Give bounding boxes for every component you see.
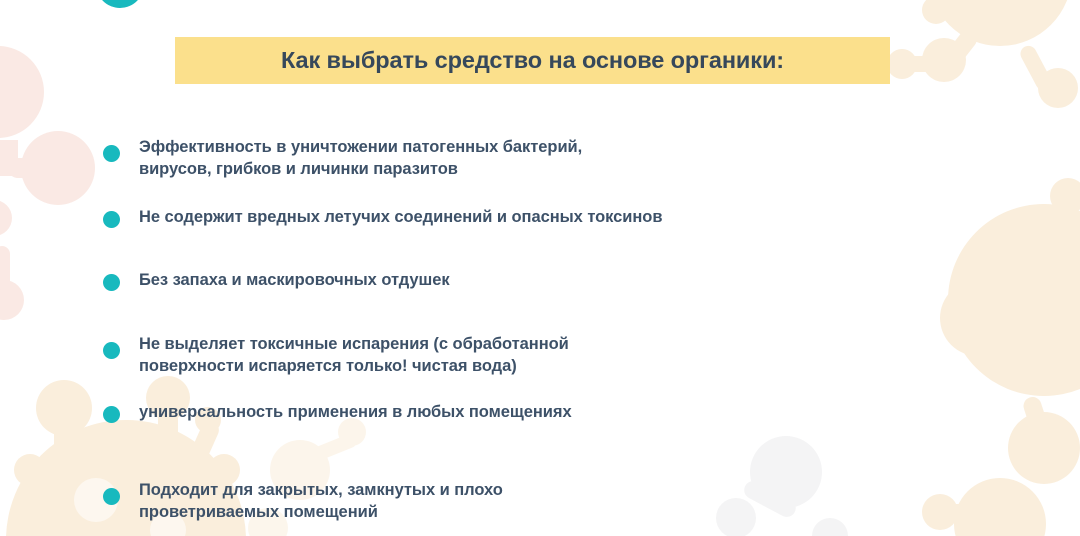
list-item: Не выделяет токсичные испарения (с обраб… [103,334,569,378]
list-item-text: Не выделяет токсичные испарения (с обраб… [139,334,569,378]
list-item: универсальность применения в любых помещ… [103,402,572,424]
list-item-text: Не содержит вредных летучих соединений и… [139,207,662,229]
list-item-text: Подходит для закрытых, замкнутых и плохо… [139,480,503,524]
list-item: Без запаха и маскировочных отдушек [103,270,450,292]
list-item: Не содержит вредных летучих соединений и… [103,207,662,229]
slide-canvas: Как выбрать средство на основе органики:… [0,0,1080,536]
slide-content: Как выбрать средство на основе органики:… [0,0,1080,536]
bullet-dot-icon [103,211,120,228]
bullet-dot-icon [103,406,120,423]
bullet-dot-icon [103,274,120,291]
benefits-list: Эффективность в уничтожении патогенных б… [0,0,1080,536]
list-item-text: универсальность применения в любых помещ… [139,402,572,424]
bullet-dot-icon [103,145,120,162]
list-item: Эффективность в уничтожении патогенных б… [103,137,582,181]
list-item-text: Эффективность в уничтожении патогенных б… [139,137,582,181]
bullet-dot-icon [103,342,120,359]
list-item-text: Без запаха и маскировочных отдушек [139,270,450,292]
bullet-dot-icon [103,488,120,505]
list-item: Подходит для закрытых, замкнутых и плохо… [103,480,503,524]
